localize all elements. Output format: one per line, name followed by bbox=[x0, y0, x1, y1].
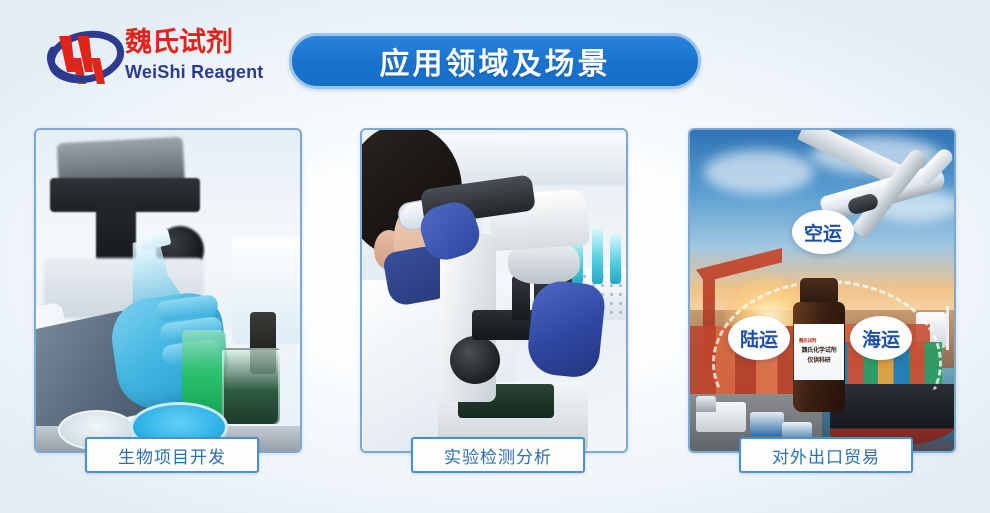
card-caption-label: 对外出口贸易 bbox=[772, 443, 880, 468]
badge-sea-freight-label: 海运 bbox=[862, 325, 900, 352]
badge-sea-freight: 海运 bbox=[850, 316, 912, 360]
scenario-card-list: 魏氏试剂 魏氏化学试剂 仅供科研 空运 陆运 海运 生物项目开发 bbox=[0, 0, 990, 513]
scenario-card-lab-testing-analysis[interactable] bbox=[360, 128, 628, 453]
badge-air-freight-label: 空运 bbox=[804, 219, 842, 246]
card-image-export-trade: 魏氏试剂 魏氏化学试剂 仅供科研 空运 陆运 海运 bbox=[690, 130, 954, 451]
bottle-label-line2: 仅供科研 bbox=[807, 357, 830, 365]
reagent-bottle-icon: 魏氏试剂 魏氏化学试剂 仅供科研 bbox=[790, 278, 848, 412]
card-caption-bio-project-development[interactable]: 生物项目开发 bbox=[85, 437, 259, 473]
bottle-label: 魏氏试剂 魏氏化学试剂 仅供科研 bbox=[794, 324, 844, 380]
scenario-card-bio-project-development[interactable] bbox=[34, 128, 302, 453]
badge-land-freight: 陆运 bbox=[728, 316, 790, 360]
card-image-bio-project-development bbox=[36, 130, 300, 451]
badge-land-freight-label: 陆运 bbox=[740, 325, 778, 352]
badge-air-freight: 空运 bbox=[792, 210, 854, 254]
card-image-lab-testing-analysis bbox=[362, 130, 626, 451]
card-caption-label: 实验检测分析 bbox=[444, 443, 552, 468]
bottle-label-line1: 魏氏化学试剂 bbox=[802, 347, 837, 355]
card-caption-label: 生物项目开发 bbox=[118, 443, 226, 468]
card-caption-export-trade[interactable]: 对外出口贸易 bbox=[739, 437, 913, 473]
application-scenarios-banner: 魏氏试剂 WeiShi Reagent 应用领域及场景 bbox=[0, 0, 990, 513]
scenario-card-export-trade[interactable]: 魏氏试剂 魏氏化学试剂 仅供科研 空运 陆运 海运 bbox=[688, 128, 956, 453]
card-caption-lab-testing-analysis[interactable]: 实验检测分析 bbox=[411, 437, 585, 473]
bottle-label-brand: 魏氏试剂 bbox=[799, 339, 816, 345]
